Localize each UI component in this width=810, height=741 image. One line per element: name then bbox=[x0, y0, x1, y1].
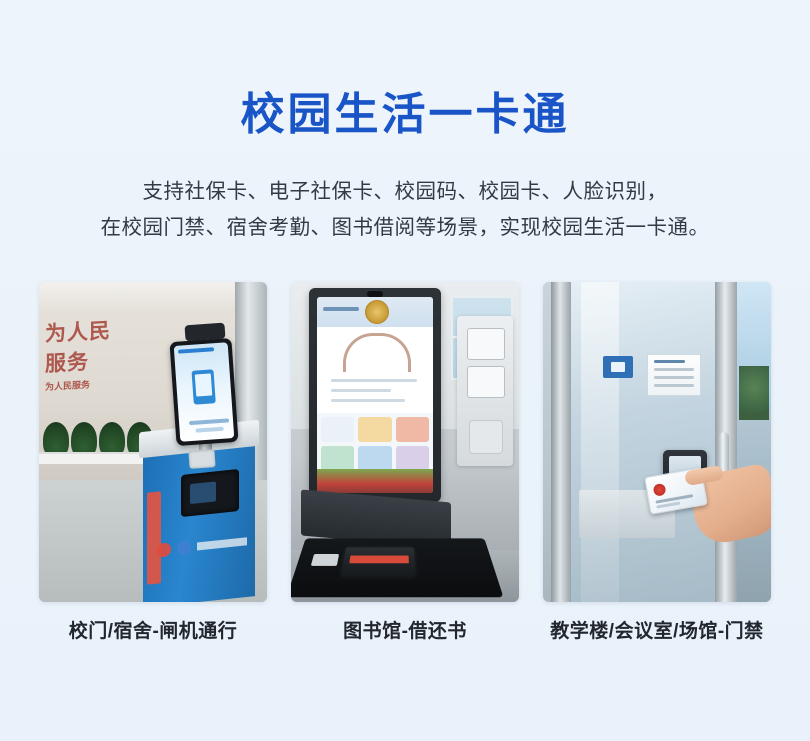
turnstile-red-strip bbox=[147, 491, 161, 584]
wall-sign-icon bbox=[603, 356, 633, 378]
book-return-tray bbox=[291, 538, 504, 597]
notice-poster bbox=[647, 354, 701, 396]
tree-icon bbox=[739, 366, 769, 420]
library-kiosk-photo bbox=[291, 282, 519, 602]
display-banner bbox=[317, 469, 433, 493]
nfc-pad-icon bbox=[188, 449, 215, 469]
kiosk-function-grid bbox=[317, 413, 433, 475]
subtitle-line-2: 在校园门禁、宿舍考勤、图书借阅等场景，实现校园生活一卡通。 bbox=[0, 210, 810, 246]
turnstile-card-reader bbox=[181, 469, 239, 517]
scenario-card-door: 教学楼/会议室/场馆-门禁 bbox=[543, 282, 771, 643]
page-title: 校园生活一卡通 bbox=[0, 29, 810, 139]
camera-module-icon bbox=[184, 322, 225, 341]
page-subtitle: 支持社保卡、电子社保卡、校园码、校园卡、人脸识别， 在校园门禁、宿舍考勤、图书借… bbox=[0, 174, 810, 246]
scenario-card-caption: 图书馆-借还书 bbox=[291, 616, 519, 643]
glass-door bbox=[569, 282, 719, 602]
scenario-card-library: 图书馆-借还书 bbox=[291, 282, 519, 643]
ceiling bbox=[39, 282, 267, 312]
scenario-card-gate: 为人民服务为人民服务 bbox=[39, 282, 267, 643]
scenario-card-caption: 教学楼/会议室/场馆-门禁 bbox=[543, 616, 771, 643]
subtitle-line-1: 支持社保卡、电子社保卡、校园码、校园卡、人脸识别， bbox=[0, 174, 810, 210]
door-access-photo bbox=[543, 282, 771, 602]
card-logo-icon bbox=[653, 482, 667, 496]
page-root: 校园生活一卡通 支持社保卡、电子社保卡、校园码、校园卡、人脸识别， 在校园门禁、… bbox=[0, 29, 810, 741]
self-service-kiosk bbox=[309, 288, 441, 502]
side-panel bbox=[457, 316, 513, 466]
book-label bbox=[349, 555, 409, 563]
door-frame-left bbox=[551, 282, 571, 602]
kiosk-display bbox=[317, 297, 433, 493]
wall-calligraphy-icon: 为人民服务为人民服务 bbox=[45, 314, 119, 360]
scenario-card-caption: 校门/宿舍-闸机通行 bbox=[39, 616, 267, 643]
face-recognition-screen bbox=[169, 338, 238, 446]
scenario-card-list: 为人民服务为人民服务 bbox=[0, 282, 810, 643]
gate-terminal-photo: 为人民服务为人民服务 bbox=[39, 282, 267, 602]
